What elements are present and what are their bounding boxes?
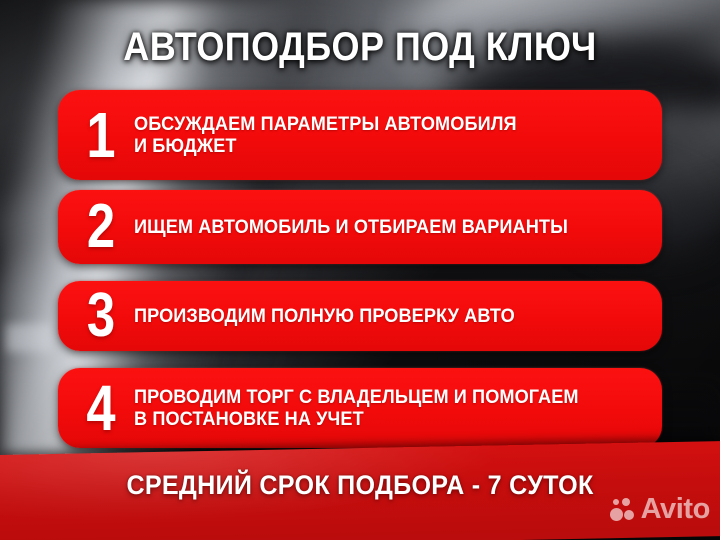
footer-banner-text: СРЕДНИЙ СРОК ПОДБОРА - 7 СУТОК [25,468,695,502]
step-number-4: 4 [76,377,127,439]
step-number-3: 3 [76,285,127,347]
avito-wordmark: Avito [641,495,710,524]
step-label-3: ПРОИЗВОДИМ ПОЛНУЮ ПРОВЕРКУ АВТО [134,305,515,327]
step-number-1: 1 [76,104,127,166]
step-label-2: ИЩЕМ АВТОМОБИЛЬ И ОТБИРАЕМ ВАРИАНТЫ [134,216,568,238]
step-card-4[interactable]: 4 ПРОВОДИМ ТОРГ С ВЛАДЕЛЬЦЕМ И ПОМОГАЕМ … [58,368,662,448]
promo-banner: АВТОПОДБОР ПОД КЛЮЧ 1 ОБСУЖДАЕМ ПАРАМЕТР… [0,0,720,540]
step-label-1: ОБСУЖДАЕМ ПАРАМЕТРЫ АВТОМОБИЛЯ И БЮДЖЕТ [134,113,517,157]
step-number-2: 2 [76,196,127,258]
avito-watermark: Avito [610,495,710,524]
step-card-2[interactable]: 2 ИЩЕМ АВТОМОБИЛЬ И ОТБИРАЕМ ВАРИАНТЫ [58,190,662,264]
avito-dots-icon [610,498,636,522]
step-card-1[interactable]: 1 ОБСУЖДАЕМ ПАРАМЕТРЫ АВТОМОБИЛЯ И БЮДЖЕ… [58,90,662,180]
step-label-4: ПРОВОДИМ ТОРГ С ВЛАДЕЛЬЦЕМ И ПОМОГАЕМ В … [134,386,579,430]
step-card-3[interactable]: 3 ПРОИЗВОДИМ ПОЛНУЮ ПРОВЕРКУ АВТО [58,281,662,351]
